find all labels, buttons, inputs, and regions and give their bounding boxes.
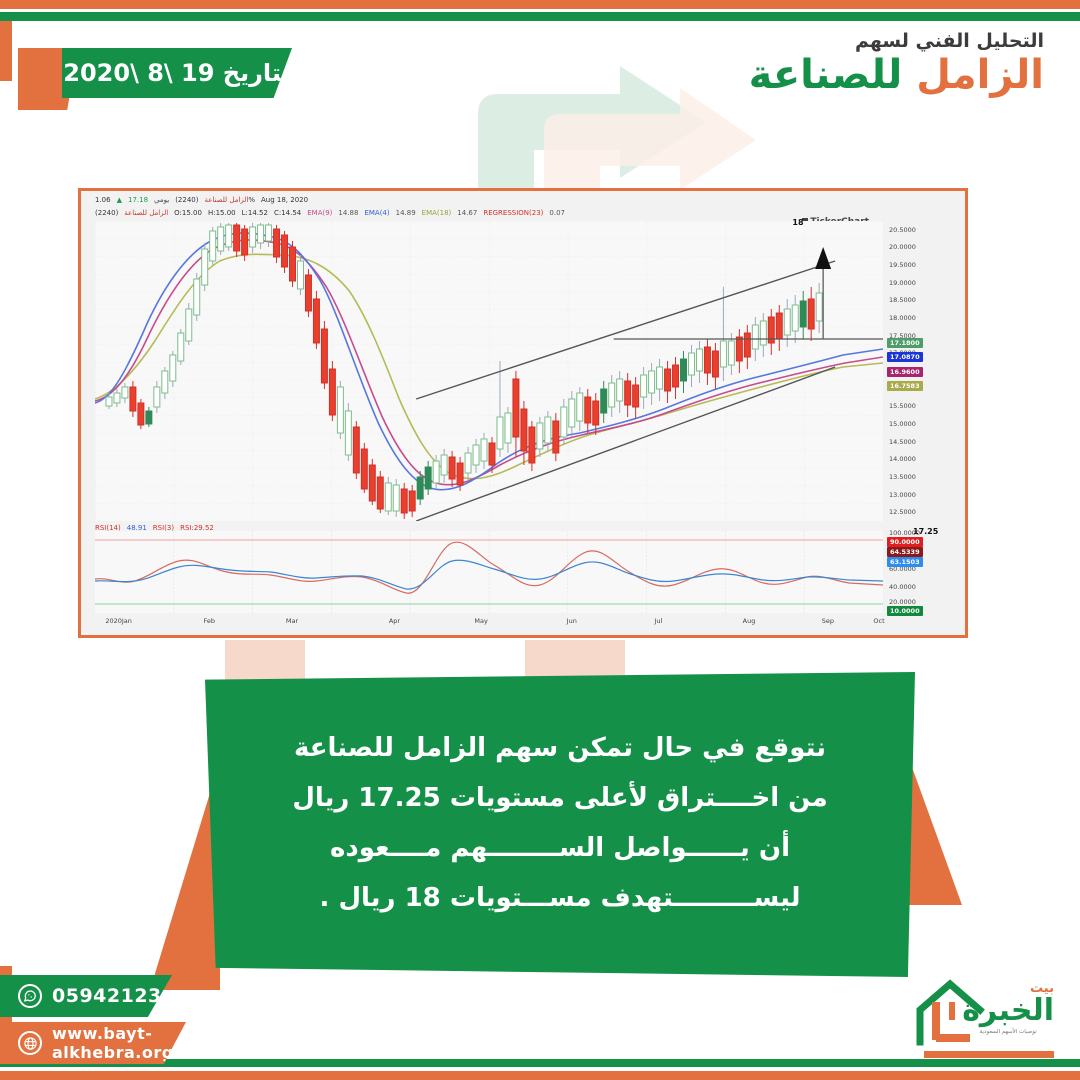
price-tick: 18.0000 (889, 314, 916, 322)
decor-blush-left (225, 640, 305, 680)
chart-inner: الزامل للصناعة(2240)يومي17.18▲1.06%Aug 1… (81, 191, 965, 635)
bottom-stripe-orange (0, 1071, 1080, 1080)
page-title-green: للصناعة (749, 52, 903, 98)
rsi-header: RSI(14)48.91RSI(3)RSI:29.52 (89, 524, 214, 532)
logo-tagline: توصيات الأسهم السعودية (962, 1029, 1054, 1035)
x-axis: 2020Jan Feb Mar Apr May Jun Jul Aug Sep … (95, 615, 883, 629)
price-tick: 13.0000 (889, 491, 916, 499)
chart-symbol-name: الزامل للصناعة (204, 196, 248, 204)
ema9-label: EMA(9) (307, 209, 332, 217)
rsi-tick: 20.0000 (889, 598, 916, 606)
website-contact[interactable]: www.bayt-alkhebra.org (0, 1022, 186, 1064)
rsi14-label: RSI(14) (95, 524, 121, 532)
page-title: الزامل للصناعة (749, 54, 1044, 97)
message-line: أن يــــــواصل الســــــــهم مــــعوده (245, 824, 875, 874)
rsi-tick: 40.0000 (889, 583, 916, 591)
price-tick: 15.0000 (889, 420, 916, 428)
message-line: ليســـــــــتهدف مســـتويات 18 ريال . (245, 874, 875, 924)
rsi-tick: 100.0000 (889, 529, 920, 537)
x-tick: Jul (654, 617, 662, 625)
price-plot-svg (95, 221, 883, 521)
rsi3-value: RSI:29.52 (180, 524, 214, 532)
logo-word-main: الخبرة (962, 995, 1054, 1027)
page-title-orange: الزامل (916, 52, 1044, 98)
message-line: نتوقع في حال تمكن سهم الزامل للصناعة (245, 724, 875, 774)
chart-date: Aug 18, 2020 (261, 196, 308, 204)
analysis-message-panel: نتوقع في حال تمكن سهم الزامل للصناعة من … (205, 672, 915, 977)
x-tick: 2020Jan (105, 617, 132, 625)
chart-card[interactable]: الزامل للصناعة(2240)يومي17.18▲1.06%Aug 1… (78, 188, 968, 638)
rsi3-label: RSI(3) (153, 524, 174, 532)
arrow-watermark (470, 60, 760, 190)
price-tick: 20.5000 (889, 226, 916, 234)
decor-blush-right (525, 640, 625, 680)
rsi-axis: 100.0000 90.0000 80.0000 60.0000 40.0000… (883, 531, 961, 613)
header-title-block: التحليل الفني لسهم الزامل للصناعة (749, 30, 1044, 97)
analysis-message-text: نتوقع في حال تمكن سهم الزامل للصناعة من … (205, 724, 915, 924)
rsi-plot-svg (95, 531, 883, 613)
ema4-value: 14.89 (396, 209, 416, 217)
top-stripe-green (0, 12, 1080, 21)
logo-wordmark: بيت الخبرة توصيات الأسهم السعودية (962, 982, 1054, 1035)
brand-logo: بيت الخبرة توصيات الأسهم السعودية (912, 976, 1062, 1062)
rsi-tag-overbought: 90.0000 (887, 537, 923, 547)
price-tick: 14.5000 (889, 438, 916, 446)
chart-symbol-code: (2240) (175, 196, 198, 204)
price-tag-last: 17.1800 (887, 338, 923, 348)
message-line: من اخــــتراق لأعلى مستويات 17.25 ريال (245, 774, 875, 824)
price-tick: 18.5000 (889, 296, 916, 304)
x-tick: Mar (286, 617, 298, 625)
x-tick: Jun (567, 617, 577, 625)
x-tick: Aug (743, 617, 756, 625)
ema9-value: 14.88 (338, 209, 358, 217)
price-tick: 14.0000 (889, 455, 916, 463)
chart-ohlc-symbol-code: (2240) (95, 209, 118, 217)
regression-label: REGRESSION(23) (483, 209, 543, 217)
price-tick: 19.5000 (889, 261, 916, 269)
target-price-annotation: 18 (792, 218, 803, 227)
chart-high: H:15.00 (208, 209, 236, 217)
chart-low: L:14.52 (242, 209, 268, 217)
regression-value: 0.07 (549, 209, 565, 217)
x-tick: Sep (822, 617, 834, 625)
top-stripe-orange (0, 0, 1080, 9)
price-tick: 20.0000 (889, 243, 916, 251)
chart-ohlc-symbol-name: الزامل للصناعة (124, 209, 168, 217)
price-tick: 19.0000 (889, 279, 916, 287)
rsi-tag-oversold: 10.0000 (887, 606, 923, 616)
rsi-tag-rsi14: 63.1503 (887, 557, 923, 567)
page-subtitle: التحليل الفني لسهم (749, 30, 1044, 52)
rsi-tag-rsi3: 64.5339 (887, 547, 923, 557)
chart-header-line1: الزامل للصناعة(2240)يومي17.18▲1.06%Aug 1… (89, 196, 308, 204)
price-axis: 20.5000 20.0000 19.5000 19.0000 18.5000 … (883, 221, 961, 521)
chart-close: C:14.54 (274, 209, 301, 217)
ema4-label: EMA(4) (364, 209, 389, 217)
ema18-value: 14.67 (457, 209, 477, 217)
price-plot-area[interactable]: 18 (95, 221, 883, 521)
chart-open: O:15.00 (174, 209, 202, 217)
price-tick: 13.5000 (889, 473, 916, 481)
globe-icon (18, 1031, 42, 1055)
rsi-plot-area[interactable] (95, 531, 883, 613)
price-tick: 15.5000 (889, 402, 916, 410)
x-tick: Feb (203, 617, 215, 625)
price-tick: 12.5000 (889, 508, 916, 516)
x-tick: Apr (389, 617, 400, 625)
x-tick: Oct (873, 617, 884, 625)
left-accent-top (0, 21, 12, 81)
whatsapp-contact[interactable]: 0594212312 (0, 975, 172, 1017)
x-tick: May (474, 617, 487, 625)
chart-last-price: 17.18 (128, 196, 148, 204)
logo-underline (924, 1051, 1054, 1058)
ema18-label: EMA(18) (422, 209, 452, 217)
whatsapp-icon (18, 984, 42, 1008)
chart-change-arrow-icon: ▲ (117, 196, 122, 204)
date-badge: بتاريخ 19 \8 \2020 (62, 48, 292, 98)
rsi14-value: 48.91 (127, 524, 147, 532)
chart-timeframe: يومي (154, 196, 169, 204)
chart-header-line2: الزامل للصناعة(2240)O:15.00H:15.00L:14.5… (89, 209, 565, 217)
price-tag-ema4: 17.0870 (887, 352, 923, 362)
price-tag-ema9: 16.9600 (887, 367, 923, 377)
website-url: www.bayt-alkhebra.org (52, 1024, 186, 1062)
price-tag-ema18: 16.7583 (887, 381, 923, 391)
